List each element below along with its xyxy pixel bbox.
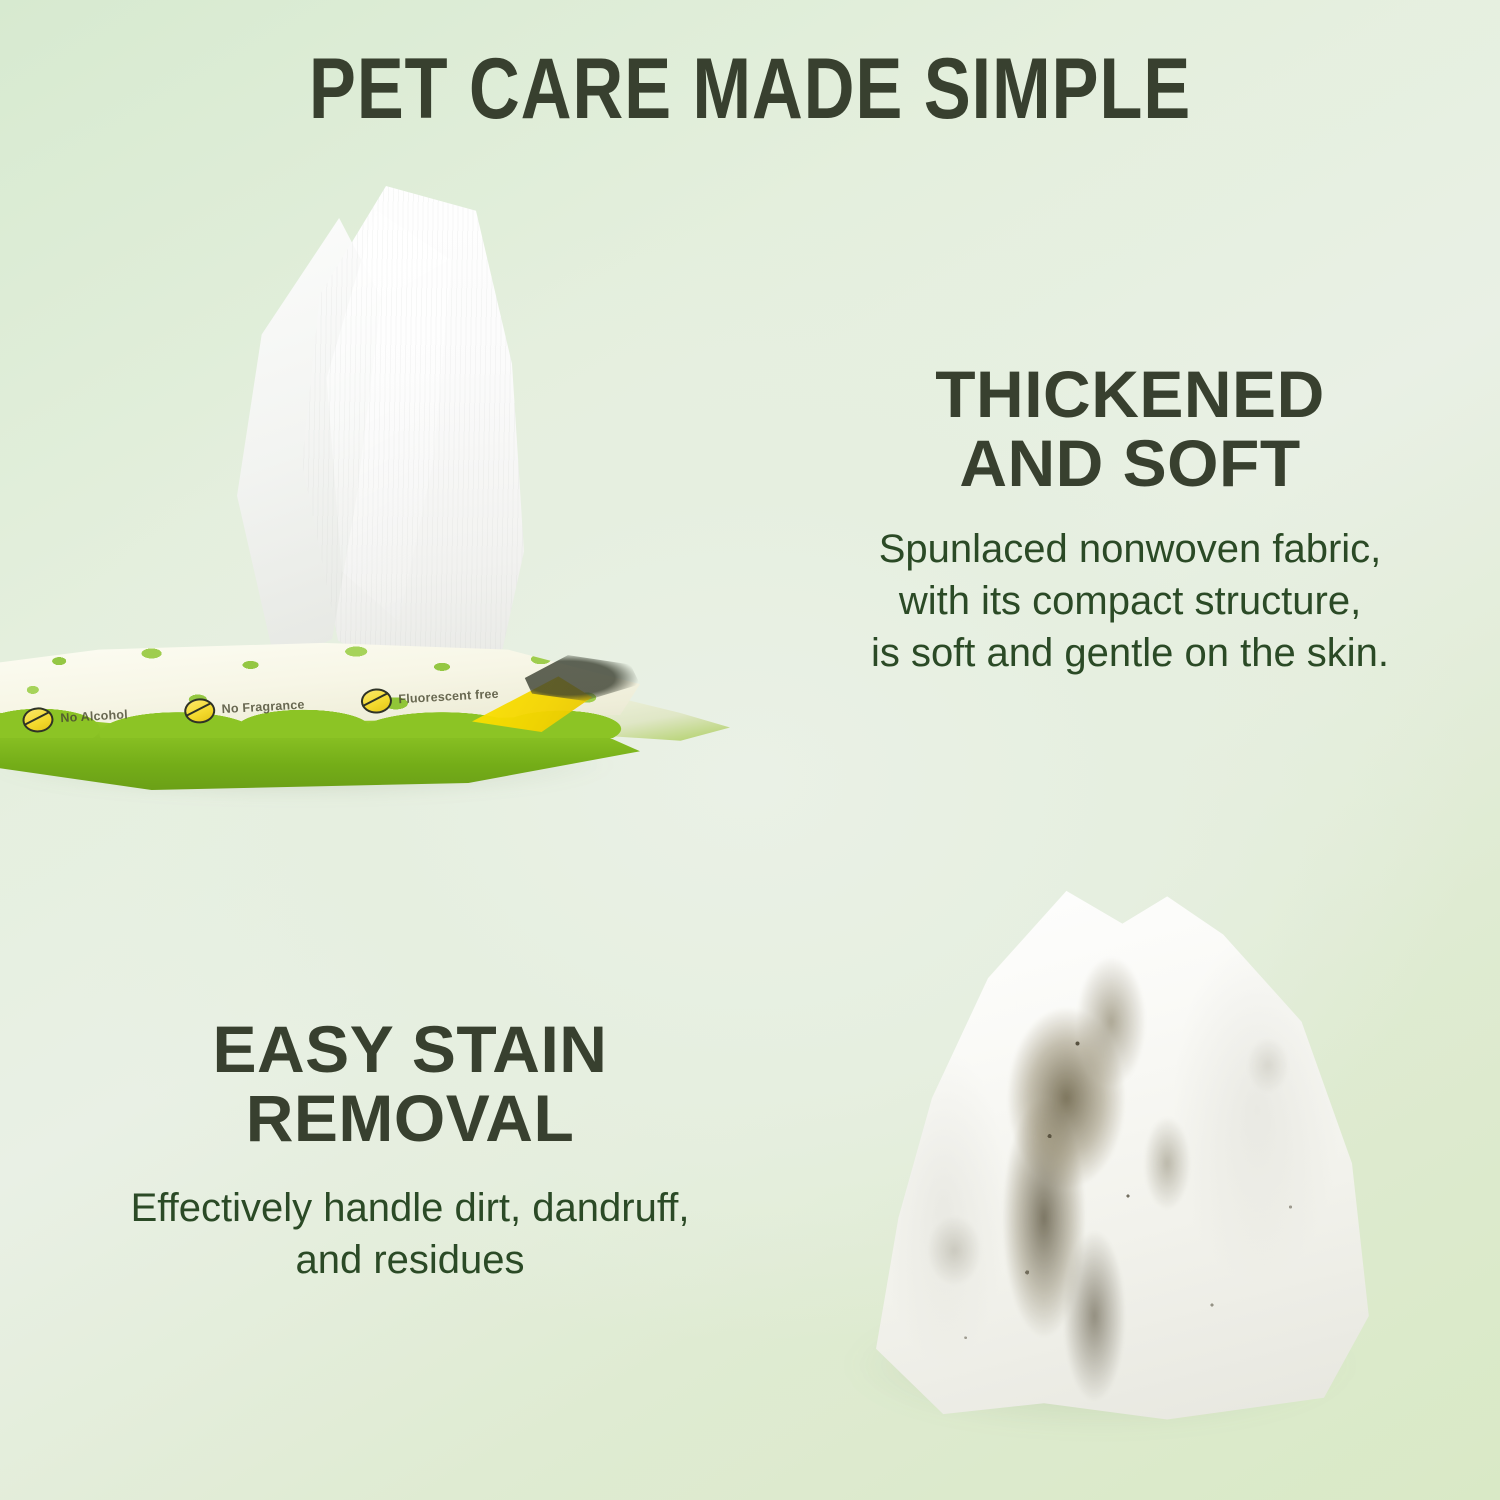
page-title: PET CARE MADE SIMPLE <box>135 46 1365 132</box>
badge-no-fragrance: No Fragrance <box>183 692 305 724</box>
dirty-wipe-image <box>820 880 1390 1440</box>
dirt-specks <box>820 880 1380 1425</box>
badge-label: Fluorescent free <box>398 687 499 707</box>
feature-description-line: Effectively handle dirt, dandruff, <box>30 1182 790 1234</box>
feature-description: Spunlaced nonwoven fabric, with its comp… <box>760 523 1500 679</box>
pack-bag: No Alcohol No Fragrance Fluorescent free <box>0 640 640 790</box>
badge-fluorescent-free: Fluorescent free <box>360 681 500 714</box>
feature-easy-stain-removal: EASY STAIN REMOVAL Effectively handle di… <box>30 1015 790 1286</box>
badge-label: No Fragrance <box>221 698 305 717</box>
feature-heading-line: AND SOFT <box>760 429 1500 498</box>
feature-heading: THICKENED AND SOFT <box>760 360 1500 497</box>
white-wipe-sheet <box>230 180 560 680</box>
feature-heading-line: REMOVAL <box>30 1084 790 1153</box>
feature-heading: EASY STAIN REMOVAL <box>30 1015 790 1152</box>
fluorescent-free-icon <box>360 687 392 714</box>
feature-thickened-and-soft: THICKENED AND SOFT Spunlaced nonwoven fa… <box>760 360 1500 679</box>
feature-heading-line: EASY STAIN <box>30 1015 790 1084</box>
product-feature-infographic: PET CARE MADE SIMPLE No Alcohol <box>0 0 1500 1500</box>
badge-no-alcohol: No Alcohol <box>22 702 129 733</box>
feature-description-line: with its compact structure, <box>760 575 1500 627</box>
no-fragrance-icon <box>183 697 215 724</box>
no-alcohol-icon <box>22 706 54 733</box>
badge-label: No Alcohol <box>60 707 128 725</box>
feature-description-line: is soft and gentle on the skin. <box>760 627 1500 679</box>
feature-description-line: Spunlaced nonwoven fabric, <box>760 523 1500 575</box>
feature-heading-line: THICKENED <box>760 360 1500 429</box>
product-pack-image: No Alcohol No Fragrance Fluorescent free <box>0 170 740 820</box>
feature-description-line: and residues <box>30 1234 790 1286</box>
feature-description: Effectively handle dirt, dandruff, and r… <box>30 1182 790 1286</box>
